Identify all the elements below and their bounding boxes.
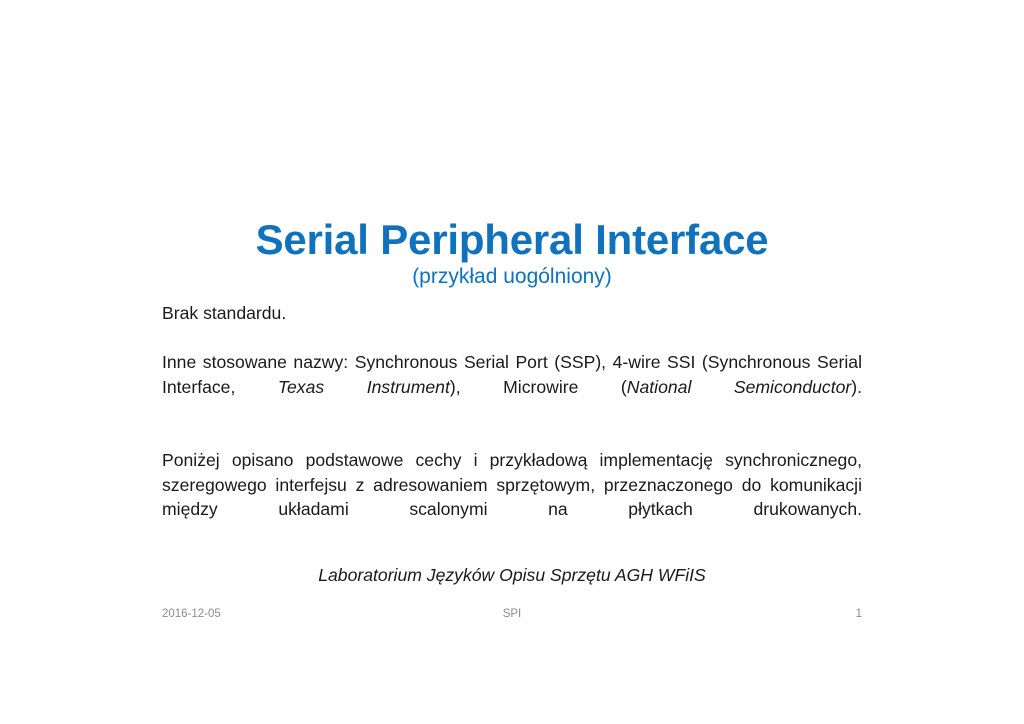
paragraph-description: Poniżej opisano podstawowe cechy i przyk… xyxy=(162,448,862,546)
paragraph-brak-standardu: Brak standardu. xyxy=(162,301,862,326)
names-text-part-2: ), Microwire ( xyxy=(450,377,627,397)
paragraph-alternative-names: Inne stosowane nazwy: Synchronous Serial… xyxy=(162,350,862,424)
page-footer: 2016-12-05 SPI 1 xyxy=(162,608,862,624)
company-national-semiconductor: National Semiconductor xyxy=(627,377,851,397)
company-texas-instrument: Texas Instrument xyxy=(278,377,450,397)
footer-topic: SPI xyxy=(162,608,862,620)
body-content: Brak standardu. Inne stosowane nazwy: Sy… xyxy=(162,301,862,546)
slide-page: Serial Peripheral Interface (przykład uo… xyxy=(0,0,1024,724)
credit-line: Laboratorium Języków Opisu Sprzętu AGH W… xyxy=(0,565,1024,586)
page-subtitle: (przykład uogólniony) xyxy=(0,265,1024,289)
title-block: Serial Peripheral Interface (przykład uo… xyxy=(0,218,1024,289)
names-text-part-3: ). xyxy=(851,377,862,397)
footer-page-number: 1 xyxy=(856,608,862,620)
page-title: Serial Peripheral Interface xyxy=(0,218,1024,263)
